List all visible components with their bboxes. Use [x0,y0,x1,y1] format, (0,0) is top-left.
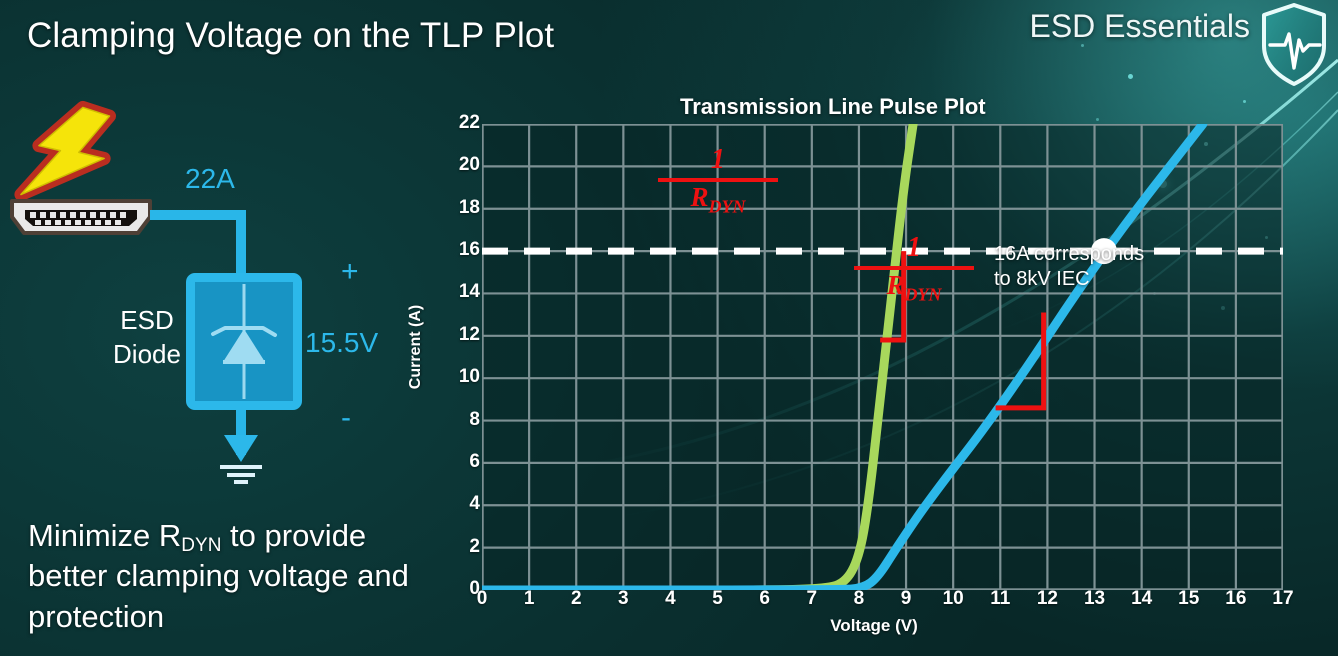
bottom-note-text1: Minimize R [28,518,181,553]
slide-canvas: Clamping Voltage on the TLP Plot ESD Ess… [0,0,1338,656]
x-tick-label: 15 [1169,588,1209,610]
callout-line1: 16A corresponds [994,243,1144,265]
tlp-chart: Transmission Line Pulse Plot Current (A)… [410,88,1338,656]
x-tick-label: 7 [792,588,832,610]
x-tick-label: 8 [839,588,879,610]
page-title: Clamping Voltage on the TLP Plot [27,16,554,56]
slope-annotation-green: 1 RDYN [658,146,778,215]
y-tick-label: 20 [442,154,480,176]
x-tick-label: 10 [933,588,973,610]
slope-numerator-blue: 1 [854,234,974,262]
esd-diode-component [186,273,302,410]
x-tick-label: 4 [650,588,690,610]
x-axis-label: Voltage (V) [410,616,1338,636]
clamping-voltage-label: 15.5V [305,327,378,359]
x-tick-label: 1 [509,588,549,610]
y-tick-label: 14 [442,281,480,303]
y-tick-label: 16 [442,239,480,261]
y-axis-ticks: 0246810121416182022 [430,88,480,608]
current-label: 22A [185,163,235,195]
slope-denominator-blue: RDYN [854,272,974,303]
esd-circuit-diagram: 22A ESD Diode + 15.5V - [0,95,420,515]
x-tick-label: 5 [698,588,738,610]
tvs-diode-symbol [195,282,293,401]
y-tick-label: 8 [442,409,480,431]
x-tick-label: 13 [1075,588,1115,610]
x-tick-label: 3 [603,588,643,610]
y-tick-label: 22 [442,112,480,134]
x-tick-label: 14 [1122,588,1162,610]
shield-pulse-icon [1252,0,1336,92]
marker-callout: 16A corresponds to 8kV IEC [994,242,1144,292]
device-label-line2: Diode [113,339,181,369]
x-tick-label: 17 [1263,588,1303,610]
callout-line2: to 8kV IEC [994,268,1090,290]
brand-label: ESD Essentials [1029,8,1250,45]
slope-denominator-green: RDYN [658,184,778,215]
slope-numerator-green: 1 [658,146,778,174]
ground-symbol [206,415,276,485]
wire-horizontal-top [150,210,246,220]
wire-vertical-top [236,210,246,280]
polarity-minus: - [341,401,351,435]
hdmi-connector-icon [6,195,156,239]
x-tick-label: 16 [1216,588,1256,610]
y-tick-label: 2 [442,536,480,558]
y-tick-label: 10 [442,366,480,388]
slope-annotation-blue: 1 RDYN [854,234,974,303]
y-tick-label: 18 [442,197,480,219]
chart-title: Transmission Line Pulse Plot [680,94,986,120]
y-axis-label: Current (A) [407,305,425,389]
x-tick-label: 12 [1027,588,1067,610]
plot-svg [482,124,1283,590]
x-tick-label: 0 [462,588,502,610]
fraction-bar-green [658,178,778,182]
x-tick-label: 9 [886,588,926,610]
y-tick-label: 12 [442,324,480,346]
x-tick-label: 2 [556,588,596,610]
bottom-note: Minimize RDYN to provide better clamping… [28,516,438,637]
device-label: ESD Diode [108,303,186,372]
fraction-bar-blue [854,266,974,270]
bottom-note-subscript: DYN [181,535,221,556]
y-tick-label: 4 [442,493,480,515]
device-label-line1: ESD [120,305,173,335]
y-tick-label: 6 [442,451,480,473]
polarity-plus: + [341,255,359,289]
x-tick-label: 11 [980,588,1020,610]
plot-area: 1 RDYN 1 RDYN 16A corresponds to 8kV IEC [482,124,1283,590]
x-axis-ticks: 01234567891011121314151617 [482,588,1292,618]
x-tick-label: 6 [745,588,785,610]
